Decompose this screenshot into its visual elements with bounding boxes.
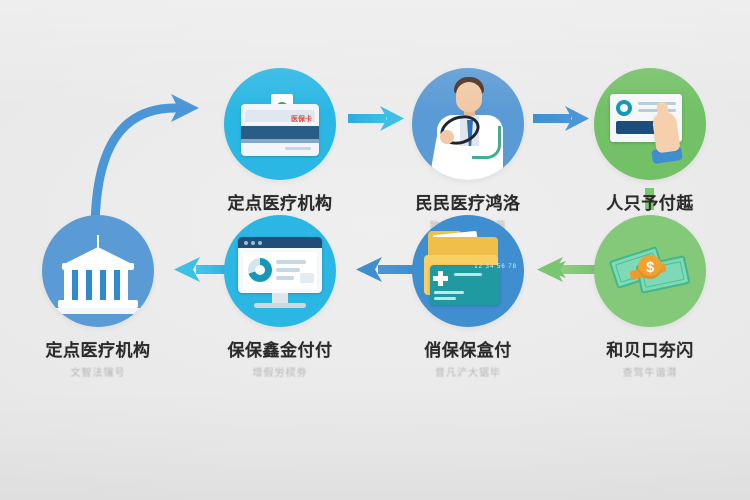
node-circle-4[interactable]: $ bbox=[594, 215, 706, 327]
node-subtitle-7: 文智法镶号 bbox=[18, 364, 178, 379]
medical-insurance-card-icon: 医保卡 bbox=[224, 68, 336, 180]
node-circle-2[interactable] bbox=[412, 68, 524, 180]
node-circle-7[interactable] bbox=[42, 215, 154, 327]
node-title-6: 保保鑫金付付 bbox=[200, 336, 360, 361]
flow-node-claim-folder[interactable]: 12 34 56 78 俏保保盒付 昔凡浐大锯毕 bbox=[388, 215, 548, 379]
node-title-1: 定点医疗机构 bbox=[200, 189, 360, 214]
node-subtitle-5: 昔凡浐大锯毕 bbox=[388, 364, 548, 379]
node-circle-3[interactable] bbox=[594, 68, 706, 180]
doctor-icon bbox=[412, 68, 524, 180]
node-title-4: 和贝口夯闪 bbox=[570, 336, 730, 361]
node-title-2: 民民医疗鸿洛 bbox=[388, 189, 548, 214]
bank-building-icon bbox=[42, 215, 154, 327]
desktop-monitor-chart-icon bbox=[224, 215, 336, 327]
cash-money-icon: $ bbox=[594, 215, 706, 327]
node-title-7: 定点医疗机构 bbox=[18, 336, 178, 361]
node-title-5: 俏保保盒付 bbox=[388, 336, 548, 361]
node-subtitle-4: 查驾牛谐潸 bbox=[570, 364, 730, 379]
flow-node-settlement-system[interactable]: 保保鑫金付付 增假労棂劵 bbox=[200, 215, 360, 379]
node-circle-5[interactable]: 12 34 56 78 bbox=[412, 215, 524, 327]
flow-node-doctor[interactable]: 民民医疗鸿洛 致床鼍芥号蒴蒴 bbox=[388, 68, 548, 232]
flow-node-payment[interactable]: 人只予付趆 符大促逸盲 bbox=[570, 68, 730, 232]
diagram-canvas: 医保卡 定点医疗机构 育策界医定 bbox=[0, 0, 750, 500]
flow-node-cash[interactable]: $ 和贝口夯闪 查驾牛谐潸 bbox=[570, 215, 730, 379]
med-card-number: 12 34 56 78 bbox=[474, 264, 517, 270]
arrow-curve-start bbox=[95, 94, 199, 232]
node-circle-6[interactable] bbox=[224, 215, 336, 327]
folder-medical-card-icon: 12 34 56 78 bbox=[412, 215, 524, 327]
node-title-3: 人只予付趆 bbox=[570, 189, 730, 214]
card-label: 医保卡 bbox=[291, 114, 312, 124]
flow-node-medical-institution-top[interactable]: 医保卡 定点医疗机构 育策界医定 bbox=[200, 68, 360, 232]
card-payment-hand-icon bbox=[594, 68, 706, 180]
node-subtitle-6: 增假労棂劵 bbox=[200, 364, 360, 379]
node-circle-1[interactable]: 医保卡 bbox=[224, 68, 336, 180]
flow-node-medical-institution-bottom[interactable]: 定点医疗机构 文智法镶号 bbox=[18, 215, 178, 379]
